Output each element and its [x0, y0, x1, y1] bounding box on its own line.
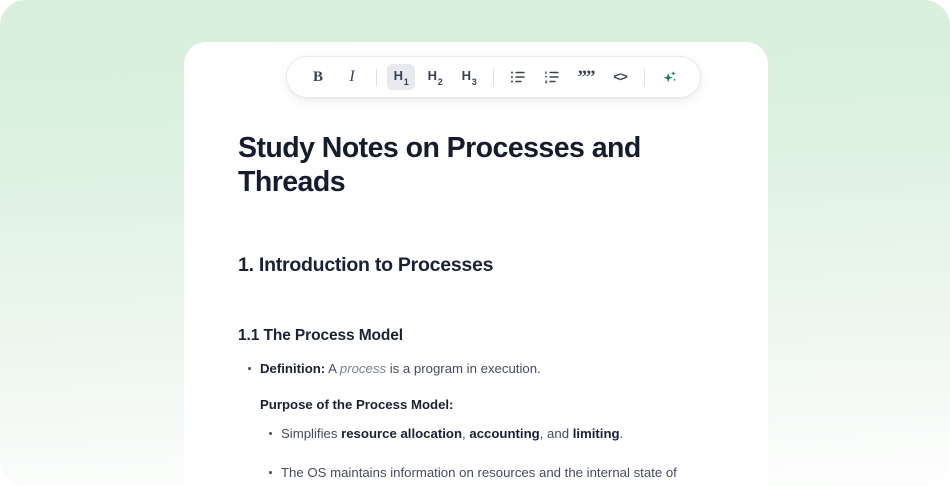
heading-1-button[interactable]: H1 — [387, 64, 415, 90]
heading-3-icon: H3 — [462, 69, 477, 86]
numbered-list-icon — [544, 70, 560, 84]
list-item: Simplifies resource allocation, accounti… — [238, 424, 738, 444]
ai-sparkle-icon — [661, 69, 678, 86]
nested-bold-1c: limiting — [573, 426, 620, 441]
code-block-button[interactable]: <> — [606, 64, 634, 90]
list-item: Definition: A process is a program in ex… — [238, 359, 738, 379]
nested-text-1d: . — [620, 426, 624, 441]
nested-text-1a: Simplifies — [281, 426, 341, 441]
definition-text-2: is a program in execution. — [386, 361, 541, 376]
italic-icon: I — [349, 69, 354, 85]
heading-3-button[interactable]: H3 — [455, 64, 483, 90]
bullet-list-button[interactable] — [504, 64, 532, 90]
blockquote-button[interactable]: ”” — [572, 64, 600, 90]
purpose-heading: Purpose of the Process Model: — [238, 397, 738, 412]
bold-icon: B — [313, 70, 323, 85]
list-item: The OS maintains information on resource… — [238, 463, 738, 483]
heading-2-icon: H2 — [428, 69, 443, 86]
heading-2-button[interactable]: H2 — [421, 64, 449, 90]
section-heading-1: 1. Introduction to Processes — [238, 254, 738, 277]
definition-italic-term: process — [340, 361, 386, 376]
nested-bold-1a: resource allocation — [341, 426, 462, 441]
toolbar-separator-1 — [376, 69, 377, 86]
nested-text-2a: The OS maintains information on resource… — [281, 465, 677, 480]
app-canvas-background: B I H1 H2 H3 — [0, 0, 950, 486]
code-icon: <> — [613, 71, 627, 84]
heading-1-icon: H1 — [394, 69, 409, 86]
top-level-bullet-list: Definition: A process is a program in ex… — [238, 359, 738, 379]
document-content[interactable]: Study Notes on Processes and Threads 1. … — [238, 132, 738, 486]
page-title: Study Notes on Processes and Threads — [238, 132, 648, 199]
definition-label: Definition: — [260, 361, 325, 376]
numbered-list-button[interactable] — [538, 64, 566, 90]
subsection-heading-1-1: 1.1 The Process Model — [238, 327, 738, 345]
nested-text-1c: , and — [540, 426, 573, 441]
toolbar-separator-2 — [493, 69, 494, 86]
formatting-toolbar[interactable]: B I H1 H2 H3 — [286, 56, 701, 98]
definition-text-1: A — [325, 361, 340, 376]
ai-assist-button[interactable] — [655, 64, 683, 90]
italic-button[interactable]: I — [338, 64, 366, 90]
bold-button[interactable]: B — [304, 64, 332, 90]
nested-bold-1b: accounting — [469, 426, 539, 441]
document-card: B I H1 H2 H3 — [184, 42, 768, 486]
screenshot-root: B I H1 H2 H3 — [0, 0, 950, 486]
bullet-list-icon — [510, 70, 526, 84]
quote-icon: ”” — [578, 68, 595, 87]
toolbar-separator-3 — [644, 69, 645, 86]
nested-bullet-list: Simplifies resource allocation, accounti… — [238, 424, 738, 483]
